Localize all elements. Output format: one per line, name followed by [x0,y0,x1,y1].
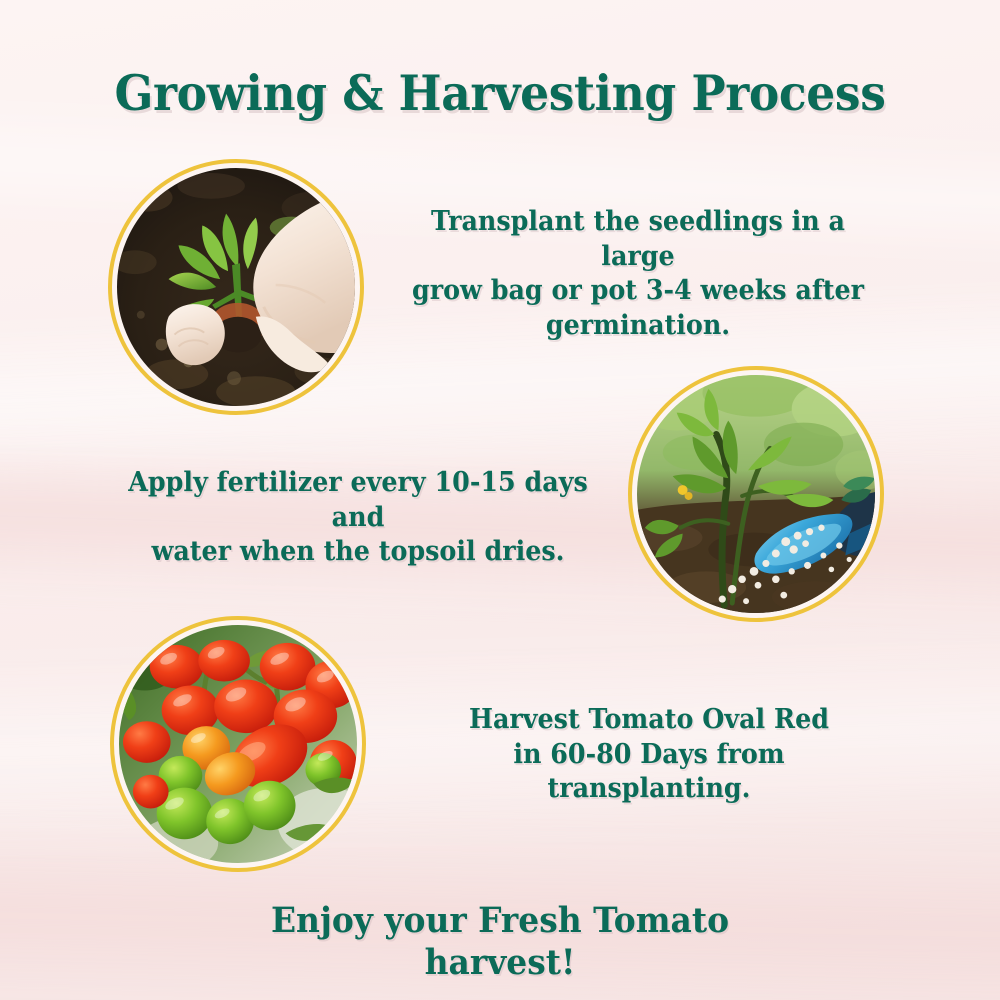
photo-disc [119,625,357,863]
infographic-poster: Growing & Harvesting Process [0,0,1000,1000]
step-2-caption: Apply fertilizer every 10-15 days and wa… [112,466,605,570]
step-3-photo-tomato-cluster [110,616,366,872]
page-title: Growing & Harvesting Process [35,68,965,120]
tomato-red [150,645,204,689]
photo-disc [117,168,355,406]
step-3-caption: Harvest Tomato Oval Red in 60-80 Days fr… [413,703,885,807]
photo-disc [637,375,875,613]
closing-message: Enjoy your Fresh Tomato harvest! [256,900,745,984]
tomato-green [244,781,296,831]
tomato-red [198,640,250,682]
tomato-red [133,775,169,809]
step-2-photo-fertilizing [628,366,884,622]
trowel-fertilizer-illustration [637,375,875,613]
tomato-red [214,680,277,734]
step-1-photo-seedling-planting [108,159,364,415]
tomato-red [123,721,171,763]
hands-planting-seedling-illustration [117,168,355,406]
step-1-caption: Transplant the seedlings in a large grow… [403,205,873,343]
oval-tomato-cluster-illustration [119,625,357,863]
